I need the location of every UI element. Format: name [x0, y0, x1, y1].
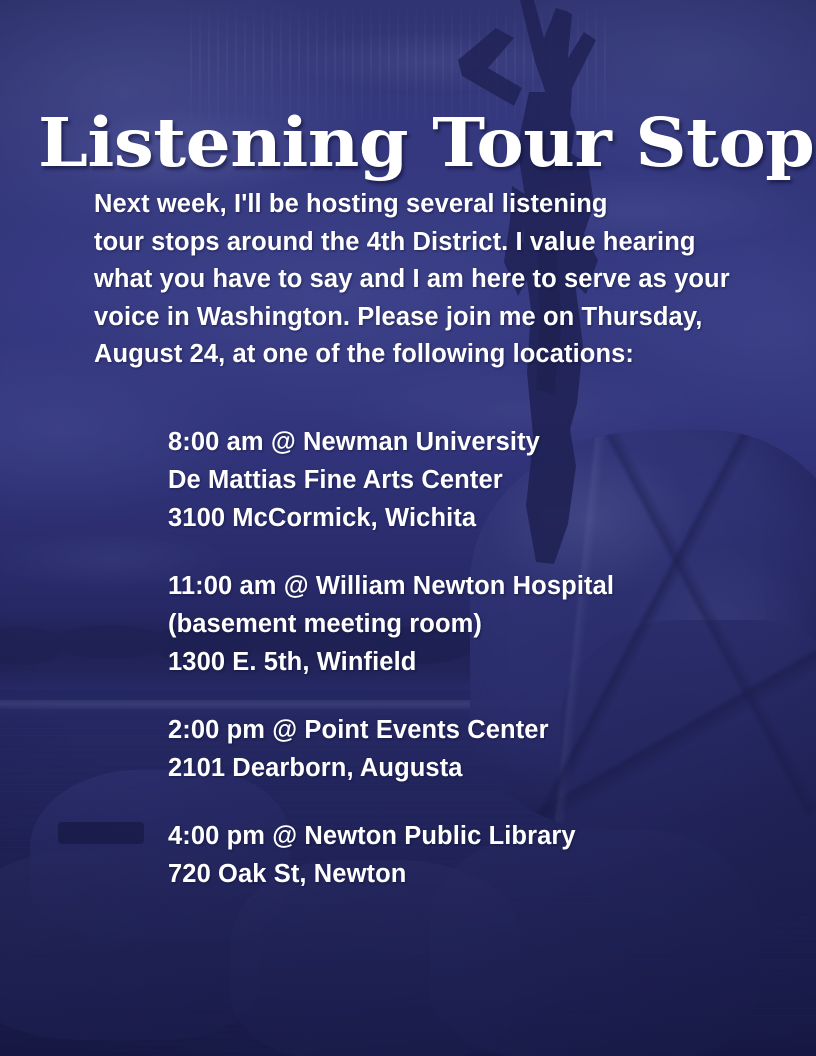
intro-paragraph: Next week, I'll be hosting several liste…: [94, 186, 734, 374]
intro-line-5: August 24, at one of the following locat…: [94, 336, 734, 374]
stop-address: 3100 McCormick, Wichita: [168, 499, 788, 537]
poster-content: Listening Tour Stops Next week, I'll be …: [0, 0, 816, 1056]
stop-detail: De Mattias Fine Arts Center: [168, 461, 788, 499]
intro-line-3: what you have to say and I am here to se…: [94, 261, 734, 299]
intro-line-4: voice in Washington. Please join me on T…: [94, 299, 734, 337]
stop-address: 1300 E. 5th, Winfield: [168, 643, 788, 681]
tour-stop-item: 2:00 pm @ Point Events Center 2101 Dearb…: [168, 711, 788, 787]
tour-stop-list: 8:00 am @ Newman University De Mattias F…: [168, 423, 788, 893]
stop-time-venue: 4:00 pm @ Newton Public Library: [168, 817, 788, 855]
page-title: Listening Tour Stops: [38, 109, 816, 176]
stop-time-venue: 11:00 am @ William Newton Hospital: [168, 567, 788, 605]
stop-detail: (basement meeting room): [168, 605, 788, 643]
intro-line-2: tour stops around the 4th District. I va…: [94, 224, 734, 262]
tour-stop-item: 11:00 am @ William Newton Hospital (base…: [168, 567, 788, 681]
poster-canvas: Listening Tour Stops Next week, I'll be …: [0, 0, 816, 1056]
stop-address: 2101 Dearborn, Augusta: [168, 749, 788, 787]
stop-time-venue: 2:00 pm @ Point Events Center: [168, 711, 788, 749]
tour-stop-item: 4:00 pm @ Newton Public Library 720 Oak …: [168, 817, 788, 893]
stop-time-venue: 8:00 am @ Newman University: [168, 423, 788, 461]
stop-address: 720 Oak St, Newton: [168, 855, 788, 893]
intro-line-1: Next week, I'll be hosting several liste…: [94, 186, 734, 224]
tour-stop-item: 8:00 am @ Newman University De Mattias F…: [168, 423, 788, 537]
